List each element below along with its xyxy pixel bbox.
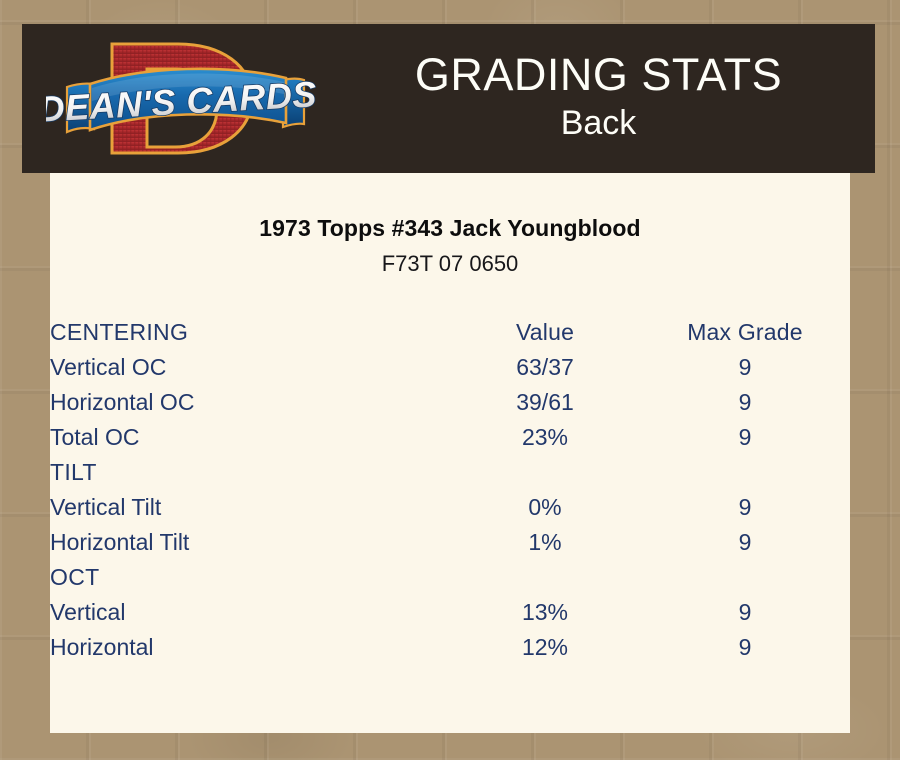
section-value-spacer <box>450 455 640 490</box>
row-label: Horizontal OC <box>50 385 450 420</box>
page-title: GRADING STATS <box>415 52 782 98</box>
row-value: 1% <box>450 525 640 560</box>
section-header-row: TILT <box>50 455 850 490</box>
column-header-value: Value <box>450 315 640 350</box>
table-row: Horizontal Tilt 1% 9 <box>50 525 850 560</box>
row-grade: 9 <box>640 525 850 560</box>
row-value: 63/37 <box>450 350 640 385</box>
row-grade: 9 <box>640 630 850 665</box>
header-band: DEAN'S CARDS GRADING STATS Back <box>22 24 875 173</box>
column-header-centering: CENTERING <box>50 315 450 350</box>
table-body: Vertical OC 63/37 9 Horizontal OC 39/61 … <box>50 350 850 665</box>
row-value: 0% <box>450 490 640 525</box>
section-grade-spacer <box>640 455 850 490</box>
row-label: Vertical <box>50 595 450 630</box>
content-panel: 1973 Topps #343 Jack Youngblood F73T 07 … <box>50 173 850 733</box>
section-header-row: OCT <box>50 560 850 595</box>
row-grade: 9 <box>640 420 850 455</box>
row-grade: 9 <box>640 595 850 630</box>
page-subtitle: Back <box>561 102 637 145</box>
row-value: 13% <box>450 595 640 630</box>
row-grade: 9 <box>640 350 850 385</box>
grading-stats-table: CENTERING Value Max Grade Vertical OC 63… <box>50 315 850 665</box>
row-grade: 9 <box>640 490 850 525</box>
row-value: 39/61 <box>450 385 640 420</box>
header-title-group: GRADING STATS Back <box>322 24 875 173</box>
table-row: Total OC 23% 9 <box>50 420 850 455</box>
column-header-max-grade: Max Grade <box>640 315 850 350</box>
row-value: 23% <box>450 420 640 455</box>
deans-cards-logo-graphic: DEAN'S CARDS <box>46 26 316 171</box>
row-grade: 9 <box>640 385 850 420</box>
row-label: Horizontal Tilt <box>50 525 450 560</box>
row-label: Vertical Tilt <box>50 490 450 525</box>
deans-cards-logo[interactable]: DEAN'S CARDS <box>46 26 316 171</box>
table-row: Horizontal 12% 9 <box>50 630 850 665</box>
row-label: Horizontal <box>50 630 450 665</box>
table-row: Vertical OC 63/37 9 <box>50 350 850 385</box>
section-label-tilt: TILT <box>50 455 450 490</box>
table-row: Horizontal OC 39/61 9 <box>50 385 850 420</box>
section-label-oct: OCT <box>50 560 450 595</box>
card-serial-number: F73T 07 0650 <box>50 251 850 277</box>
card-title: 1973 Topps #343 Jack Youngblood <box>50 215 850 242</box>
table-header-row: CENTERING Value Max Grade <box>50 315 850 350</box>
row-value: 12% <box>450 630 640 665</box>
section-value-spacer <box>450 560 640 595</box>
table-row: Vertical 13% 9 <box>50 595 850 630</box>
table-row: Vertical Tilt 0% 9 <box>50 490 850 525</box>
row-label: Vertical OC <box>50 350 450 385</box>
table-header: CENTERING Value Max Grade <box>50 315 850 350</box>
section-grade-spacer <box>640 560 850 595</box>
row-label: Total OC <box>50 420 450 455</box>
